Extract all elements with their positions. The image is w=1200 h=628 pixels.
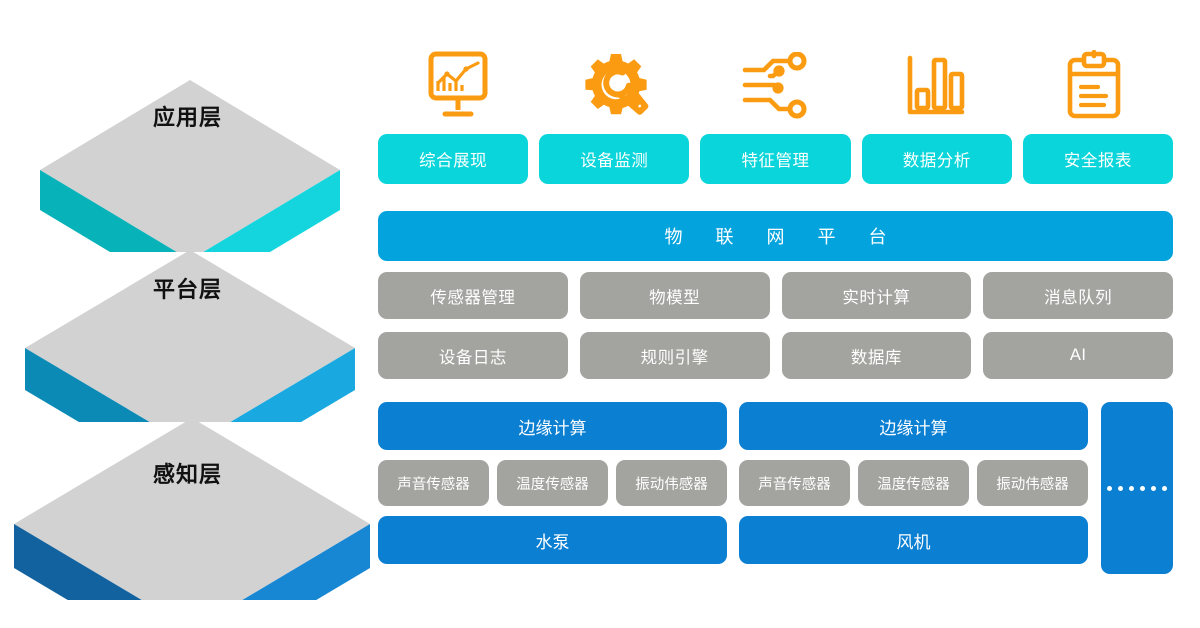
iot-platform-bar[interactable]: 物 联 网 平 台 [378,211,1173,261]
service-ai[interactable]: AI [983,332,1173,379]
service-realtime-computing[interactable]: 实时计算 [782,272,972,319]
gear-wrench-icon [537,45,696,127]
service-sensor-management[interactable]: 传感器管理 [378,272,568,319]
app-pill-device-monitoring[interactable]: 设备监测 [539,134,689,184]
edge-computing-header-2[interactable]: 边缘计算 [739,402,1088,450]
edge-computing-header-1[interactable]: 边缘计算 [378,402,727,450]
sensor-vibration-2[interactable]: 振动伟感器 [977,460,1088,506]
service-rule-engine[interactable]: 规则引擎 [580,332,770,379]
circuit-nodes-icon [696,45,855,127]
sensing-slab-shape [0,400,375,600]
platform-slab-shape [0,232,375,422]
service-database[interactable]: 数据库 [782,332,972,379]
edge-group-pump: 边缘计算 声音传感器 温度传感器 振动伟感器 水泵 [378,402,727,574]
sensor-row-2: 声音传感器 温度传感器 振动伟感器 [739,460,1088,506]
edge-group-container: 边缘计算 声音传感器 温度传感器 振动伟感器 水泵 边缘计算 声音传感器 温度传… [378,402,1088,574]
sensor-sound-1[interactable]: 声音传感器 [378,460,489,506]
app-pill-feature-management[interactable]: 特征管理 [700,134,850,184]
layer-stack: 应用层 平台层 感知层 [0,0,375,628]
sensor-temperature-1[interactable]: 温度传感器 [497,460,608,506]
service-message-queue[interactable]: 消息队列 [983,272,1173,319]
clipboard-icon [1014,45,1173,127]
sensor-sound-2[interactable]: 声音传感器 [739,460,850,506]
equipment-fan[interactable]: 风机 [739,516,1088,564]
layer-slab-application[interactable]: 应用层 [0,62,375,252]
application-pill-row: 综合展现 设备监测 特征管理 数据分析 安全报表 [378,134,1173,184]
application-slab-shape [0,62,375,252]
app-pill-comprehensive-display[interactable]: 综合展现 [378,134,528,184]
service-thing-model[interactable]: 物模型 [580,272,770,319]
sensor-vibration-1[interactable]: 振动伟感器 [616,460,727,506]
sensor-row-1: 声音传感器 温度传感器 振动伟感器 [378,460,727,506]
more-equipment-column[interactable] [1101,402,1173,574]
app-pill-data-analysis[interactable]: 数据分析 [862,134,1012,184]
architecture-panel: 综合展现 设备监测 特征管理 数据分析 安全报表 物 联 网 平 台 传感器管理… [378,0,1178,628]
equipment-water-pump[interactable]: 水泵 [378,516,727,564]
platform-service-row-2: 设备日志 规则引擎 数据库 AI [378,332,1173,379]
platform-service-row-1: 传感器管理 物模型 实时计算 消息队列 [378,272,1173,319]
layer-slab-sensing[interactable]: 感知层 [0,400,375,590]
app-pill-safety-report[interactable]: 安全报表 [1023,134,1173,184]
application-icon-row [378,45,1173,127]
sensor-temperature-2[interactable]: 温度传感器 [858,460,969,506]
layer-slab-platform[interactable]: 平台层 [0,232,375,422]
edge-group-fan: 边缘计算 声音传感器 温度传感器 振动伟感器 风机 [739,402,1088,574]
ellipsis-dots-icon [1107,486,1167,491]
service-device-log[interactable]: 设备日志 [378,332,568,379]
sensing-edge-block: 边缘计算 声音传感器 温度传感器 振动伟感器 水泵 边缘计算 声音传感器 温度传… [378,402,1173,574]
monitor-chart-icon [378,45,537,127]
bar-chart-icon [855,45,1014,127]
